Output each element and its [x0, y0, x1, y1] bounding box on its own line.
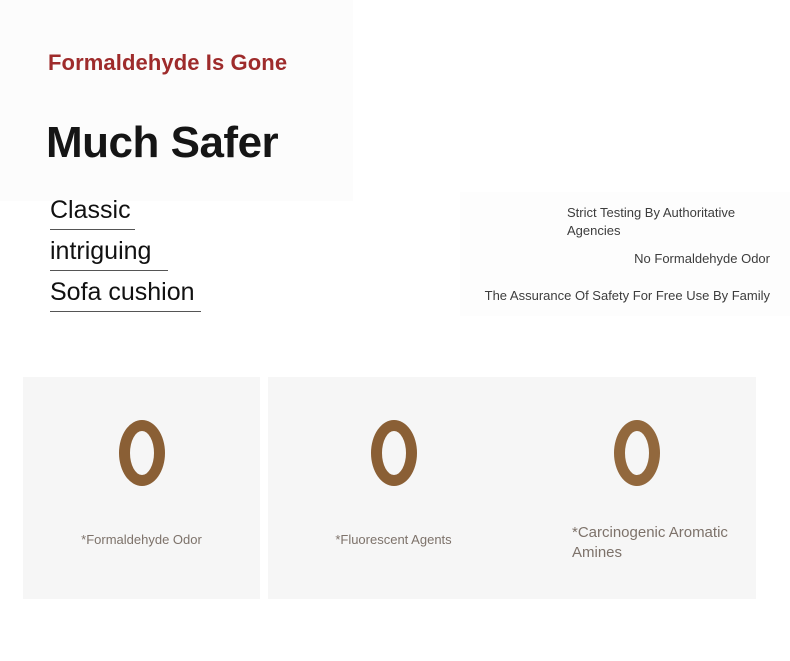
eyebrow-heading: Formaldehyde Is Gone [48, 50, 287, 76]
product-title-line-3: Sofa cushion [50, 280, 280, 312]
page-title: Much Safer [46, 118, 278, 168]
feature-card-label: *Formaldehyde Odor [31, 531, 252, 549]
feature-card-label: *Fluorescent Agents [276, 531, 511, 549]
underline-rule [50, 311, 201, 312]
feature-card-fluorescent-agents: *Fluorescent Agents [268, 377, 519, 599]
zero-ring-icon [119, 420, 165, 486]
claim-text-testing: Strict Testing By Authoritative Agencies [567, 204, 767, 239]
underline-rule [50, 270, 168, 271]
product-title-line-2: intriguing [50, 239, 280, 271]
promo-page: Formaldehyde Is Gone Much Safer Classic … [0, 0, 790, 661]
product-title-line-1-text: Classic [50, 196, 131, 224]
claim-text-family-safety: The Assurance Of Safety For Free Use By … [480, 287, 770, 305]
product-title-block: Classic intriguing Sofa cushion [50, 198, 280, 321]
product-title-line-1: Classic [50, 198, 280, 230]
feature-card-label: *Carcinogenic Aromatic Amines [572, 523, 742, 564]
zero-ring-icon [614, 420, 660, 486]
background-panel-top-left [0, 0, 353, 201]
feature-card-carcinogenic-amines: *Carcinogenic Aromatic Amines [518, 377, 756, 599]
feature-card-formaldehyde-odor: *Formaldehyde Odor [23, 377, 260, 599]
product-title-line-2-text: intriguing [50, 237, 151, 265]
product-title-line-3-text: Sofa cushion [50, 278, 195, 306]
underline-rule [50, 229, 135, 230]
claim-text-no-odor: No Formaldehyde Odor [520, 250, 770, 268]
zero-ring-icon [371, 420, 417, 486]
